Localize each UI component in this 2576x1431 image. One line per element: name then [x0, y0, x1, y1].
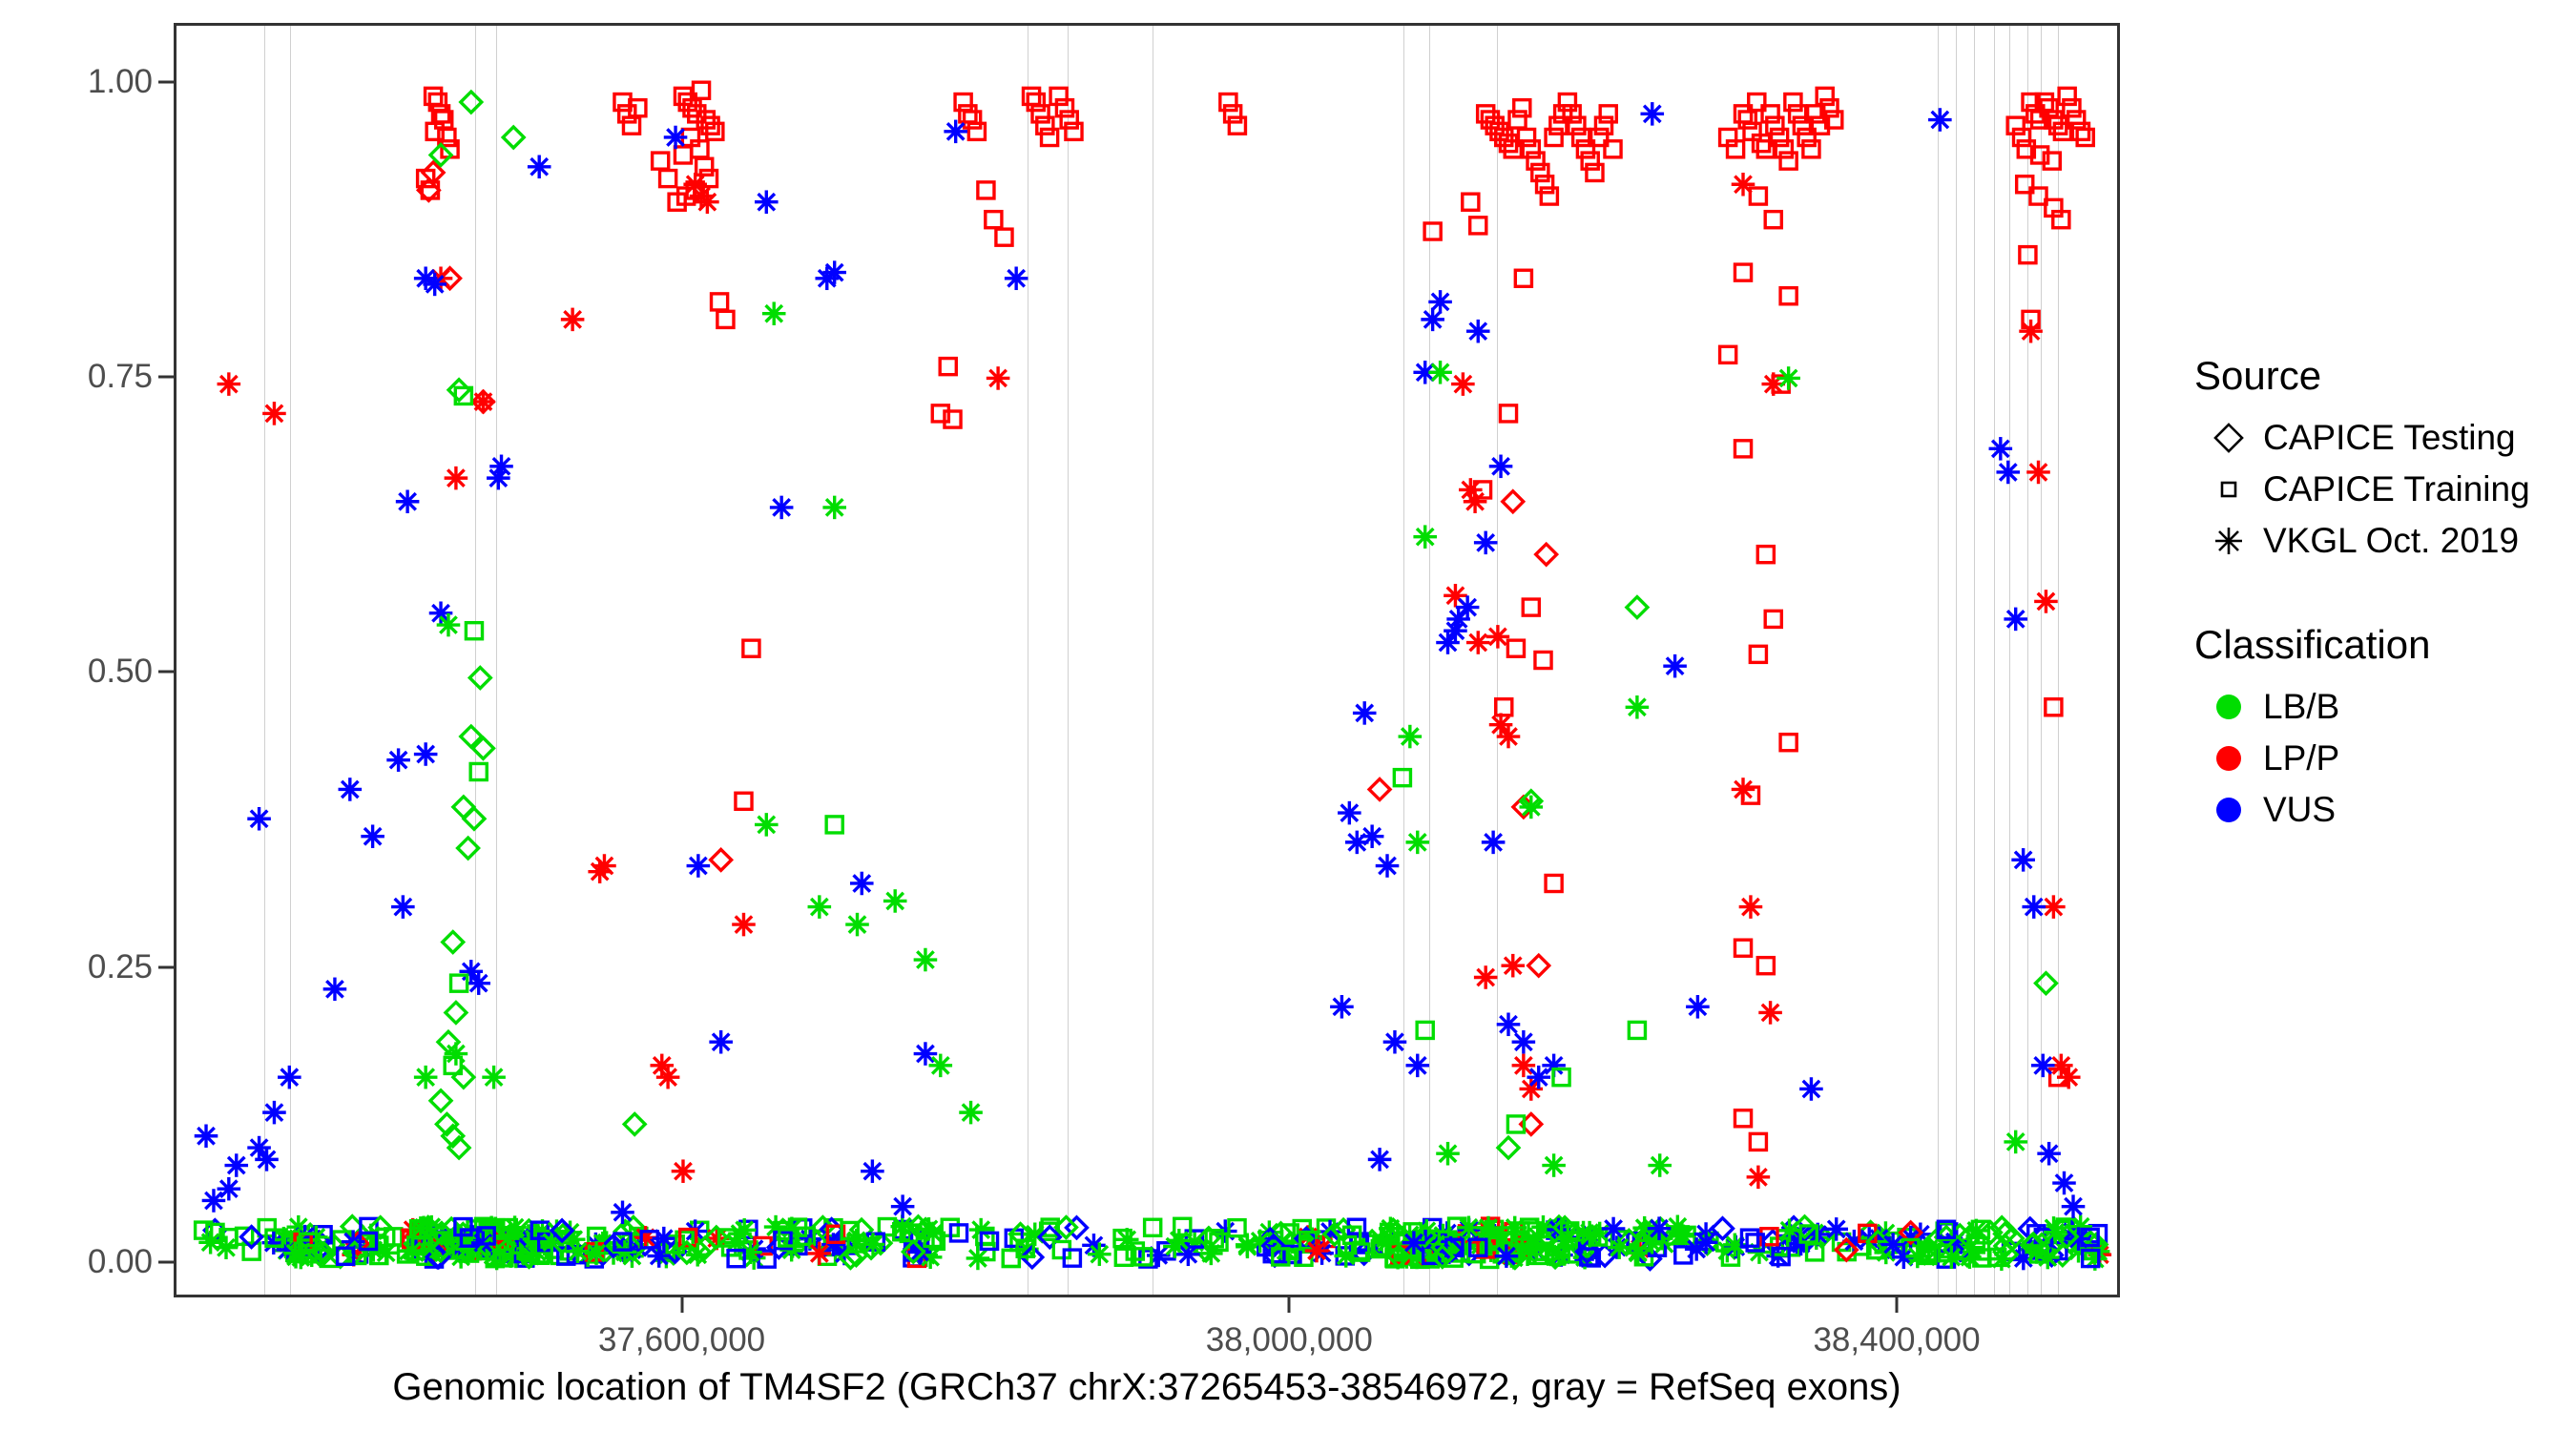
- scatter-point: [461, 92, 482, 113]
- scatter-point: [2031, 1054, 2055, 1078]
- filled-circle-icon-vus: [2194, 798, 2263, 822]
- scatter-point: [822, 496, 846, 520]
- diamond-open-icon: [2194, 422, 2263, 454]
- scatter-point: [2050, 117, 2067, 134]
- scatter-point: [1509, 112, 1526, 128]
- scatter-point: [1088, 1242, 1111, 1266]
- scatter-point: [736, 793, 752, 809]
- scatter-point: [978, 182, 994, 198]
- scatter-point: [711, 849, 732, 870]
- scatter-point: [1780, 735, 1797, 751]
- scatter-point: [883, 889, 907, 913]
- scatter-point: [1663, 654, 1687, 678]
- scatter-point: [1497, 1012, 1521, 1036]
- scatter-point: [283, 1241, 307, 1265]
- scatter-point: [996, 229, 1012, 245]
- scatter-point: [675, 147, 691, 163]
- scatter-point: [932, 405, 948, 422]
- scatter-point: [955, 94, 971, 111]
- scatter-point: [1780, 153, 1797, 169]
- scatter-point: [469, 668, 490, 689]
- scatter-point: [1145, 1219, 1161, 1235]
- plot-panel: [174, 23, 2120, 1297]
- scatter-point: [414, 742, 438, 766]
- scatter-point: [1503, 491, 1524, 512]
- scatter-point: [2044, 153, 2060, 169]
- y-tick-label: 0.50: [88, 653, 153, 691]
- scatter-point: [1436, 1142, 1460, 1166]
- scatter-point: [891, 1194, 915, 1218]
- scatter-point: [1512, 1030, 1536, 1054]
- legend-label-capice-testing: CAPICE Testing: [2263, 418, 2516, 458]
- x-tick-mark: [1288, 1297, 1291, 1313]
- scatter-point: [2034, 590, 2058, 613]
- scatter-point: [743, 640, 759, 656]
- scatter-point: [1501, 954, 1525, 978]
- scatter-point: [1229, 1220, 1245, 1236]
- scatter-point: [1330, 995, 1354, 1019]
- scatter-point: [850, 872, 874, 896]
- scatter-point: [1168, 1229, 1192, 1253]
- scatter-point: [845, 913, 869, 937]
- scatter-point: [255, 1148, 279, 1172]
- legend-label-vkgl: VKGL Oct. 2019: [2263, 521, 2519, 561]
- scatter-point: [1466, 631, 1490, 654]
- scatter-point: [2035, 973, 2056, 994]
- scatter-point: [2046, 699, 2062, 715]
- scatter-point: [1750, 188, 1766, 204]
- scatter-point: [1514, 100, 1530, 116]
- filled-circle-icon-lbb: [2194, 695, 2263, 719]
- scatter-point: [1361, 824, 1384, 848]
- scatter-point: [1739, 895, 1763, 919]
- scatter-point: [940, 359, 956, 375]
- scatter-point: [247, 807, 271, 831]
- scatter-point: [619, 106, 635, 122]
- scatter-point: [592, 854, 616, 878]
- scatter-point: [339, 778, 363, 801]
- scatter-point: [445, 467, 468, 490]
- scatter-point: [1037, 117, 1053, 134]
- scatter-point: [2004, 608, 2027, 632]
- scatter-point: [1379, 1217, 1402, 1241]
- scatter-point: [1528, 955, 1549, 976]
- scatter-point: [2044, 1220, 2067, 1244]
- legend: Source CAPICE Testing CAPICE Training: [2194, 353, 2557, 836]
- scatter-point: [1587, 164, 1603, 180]
- scatter-point: [683, 173, 707, 197]
- capice-scatter-figure: CAPICE score (pathogenicity estimate) 1.…: [0, 0, 2576, 1431]
- scatter-point: [653, 153, 669, 169]
- scatter-point: [1817, 88, 1833, 104]
- scatter-point: [696, 158, 713, 175]
- scatter-point: [467, 971, 490, 995]
- scatter-point: [1757, 547, 1774, 563]
- scatter-point: [262, 1101, 286, 1125]
- scatter-point: [960, 106, 976, 122]
- scatter-point: [1648, 1216, 1672, 1240]
- scatter-point: [929, 1054, 953, 1078]
- scatter-point: [717, 311, 734, 327]
- scatter-point: [1790, 106, 1806, 122]
- scatter-point: [770, 496, 794, 520]
- scatter-point: [2022, 895, 2046, 919]
- legend-label-vus: VUS: [2263, 790, 2336, 830]
- scatter-point: [945, 411, 961, 427]
- scatter-point: [1417, 1022, 1433, 1038]
- scatter-point: [1602, 1217, 1626, 1241]
- scatter-point: [709, 1030, 733, 1054]
- scatter-point: [396, 489, 420, 513]
- scatter-point: [1428, 361, 1452, 384]
- scatter-point: [664, 126, 688, 150]
- scatter-point: [323, 978, 347, 1002]
- scatter-point: [1520, 796, 1544, 819]
- scatter-point: [1464, 489, 1487, 513]
- scatter-point: [1463, 194, 1479, 210]
- scatter-point: [262, 402, 286, 425]
- scatter-point: [2011, 848, 2035, 872]
- scatter-point: [1765, 212, 1781, 228]
- y-tick-label: 0.25: [88, 948, 153, 986]
- scatter-point: [1542, 1153, 1566, 1177]
- legend-source-title: Source: [2194, 353, 2557, 399]
- scatter-point: [1466, 320, 1490, 343]
- scatter-point: [458, 838, 479, 859]
- scatter-point: [1482, 831, 1506, 855]
- scatter-point: [437, 613, 461, 637]
- scatter-point: [687, 854, 711, 878]
- scatter-point: [1512, 1054, 1536, 1078]
- scatter-point: [1767, 117, 1783, 134]
- scatter-point: [2057, 1066, 2081, 1089]
- scatter-point: [808, 1242, 832, 1266]
- scatter-point: [822, 260, 846, 284]
- scatter-point: [487, 467, 510, 490]
- scatter-point: [2077, 129, 2093, 145]
- legend-item-capice-training[interactable]: CAPICE Training: [2194, 464, 2557, 515]
- scatter-point: [1527, 1066, 1550, 1089]
- scatter-point: [471, 390, 495, 414]
- scatter-point: [1376, 854, 1400, 878]
- scatter-point: [1220, 94, 1236, 111]
- scatter-point: [466, 623, 482, 639]
- scatter-point: [1066, 123, 1082, 139]
- legend-item-vkgl[interactable]: VKGL Oct. 2019: [2194, 515, 2557, 567]
- scatter-point: [1383, 1030, 1407, 1054]
- y-tick-mark: [158, 671, 174, 674]
- scatter-point: [2064, 100, 2080, 116]
- scatter-point: [660, 171, 676, 187]
- scatter-point: [1028, 94, 1044, 111]
- scatter-point: [1546, 129, 1562, 145]
- scatter-point: [1532, 164, 1548, 180]
- scatter-point: [1229, 117, 1245, 134]
- scatter-point: [1600, 106, 1616, 122]
- scatter-point: [2072, 123, 2088, 139]
- legend-label-lbb: LB/B: [2263, 687, 2339, 727]
- scatter-point: [1451, 372, 1475, 396]
- scatter-point: [2059, 88, 2075, 104]
- scatter-point: [218, 1177, 241, 1201]
- scatter-point: [1713, 1218, 1734, 1239]
- scatter-point: [1338, 801, 1361, 825]
- scatter-point: [1940, 1245, 1963, 1269]
- scatter-point: [386, 748, 410, 772]
- scatter-point: [624, 1113, 645, 1134]
- legend-item-lpp[interactable]: LP/P: [2194, 733, 2557, 784]
- scatter-point: [1989, 437, 2013, 461]
- scatter-point: [1627, 597, 1648, 618]
- scatter-point: [914, 1042, 938, 1066]
- scatter-point: [540, 1231, 564, 1255]
- scatter-point: [391, 895, 415, 919]
- scatter-point: [1507, 640, 1524, 656]
- scatter-point: [566, 1239, 590, 1263]
- scatter-point: [445, 1042, 468, 1066]
- scatter-point: [1694, 1231, 1718, 1255]
- scatter-point: [1394, 770, 1410, 786]
- x-axis-label: Genomic location of TM4SF2 (GRCh37 chrX:…: [174, 1366, 2120, 1409]
- scatter-point: [426, 88, 442, 104]
- legend-spacer: [2194, 567, 2557, 622]
- scatter-point: [1996, 461, 2020, 485]
- scatter-point: [464, 808, 485, 829]
- legend-label-lpp: LP/P: [2263, 738, 2339, 778]
- legend-item-vus[interactable]: VUS: [2194, 784, 2557, 836]
- x-tick-label: 37,600,000: [598, 1321, 765, 1359]
- scatter-point: [224, 1153, 248, 1177]
- scatter-point: [1042, 129, 1058, 145]
- scatter-point: [959, 1101, 983, 1125]
- scatter-point: [1489, 455, 1513, 479]
- scatter-point: [1785, 94, 1801, 111]
- scatter-point: [1405, 1054, 1429, 1078]
- scatter-point: [1486, 625, 1510, 649]
- scatter-point: [453, 797, 474, 818]
- scatter-point: [611, 1201, 634, 1225]
- scatter-point: [1515, 270, 1531, 286]
- scatter-point: [1735, 940, 1751, 956]
- scatter-point: [528, 156, 551, 179]
- scatter-point: [965, 112, 981, 128]
- scatter-point: [1174, 1218, 1191, 1234]
- scatter-point: [1495, 1244, 1519, 1268]
- scatter-point: [1629, 1022, 1645, 1038]
- scatter-point: [1474, 965, 1498, 989]
- scatter-point: [1757, 958, 1774, 974]
- scatter-point: [218, 372, 241, 396]
- scatter-point: [453, 1067, 474, 1088]
- scatter-point: [738, 1240, 762, 1264]
- asterisk-icon: [2194, 525, 2263, 557]
- scatter-point: [1750, 646, 1766, 662]
- scatter-point: [2020, 247, 2036, 263]
- scatter-point: [198, 1231, 222, 1255]
- scatter-point: [1537, 176, 1553, 193]
- scatter-point: [1648, 1153, 1672, 1177]
- x-tick-label: 38,000,000: [1206, 1321, 1373, 1359]
- scatter-point: [656, 1066, 680, 1089]
- scatter-point: [361, 824, 384, 848]
- scatter-point: [470, 763, 487, 779]
- scatter-point: [914, 948, 938, 972]
- scatter-point: [1735, 264, 1751, 280]
- scatter-point: [987, 366, 1010, 390]
- x-tick-mark: [1896, 1297, 1899, 1313]
- scatter-point: [1732, 778, 1755, 801]
- scatter-point: [2026, 461, 2050, 485]
- scatter-point: [1399, 725, 1423, 749]
- filled-circle-icon-lpp: [2194, 746, 2263, 771]
- scatter-point: [443, 932, 464, 953]
- scatter-point: [623, 117, 639, 134]
- scatter-point: [1824, 1217, 1848, 1241]
- y-tick-label: 0.00: [88, 1243, 153, 1281]
- scatter-point: [686, 1243, 710, 1267]
- legend-item-capice-testing[interactable]: CAPICE Testing: [2194, 412, 2557, 464]
- scatter-point: [1747, 1166, 1771, 1190]
- y-tick-label: 0.75: [88, 358, 153, 396]
- scatter-point: [1928, 108, 1952, 132]
- scatter-point: [1225, 106, 1241, 122]
- scatter-point: [585, 1241, 609, 1265]
- scatter-point: [503, 1215, 527, 1239]
- scatter-point: [448, 380, 469, 401]
- scatter-point: [1536, 544, 1557, 565]
- scatter-point: [826, 817, 842, 833]
- scatter-point: [1368, 1148, 1392, 1172]
- scatter-point: [1369, 779, 1390, 800]
- scatter-point: [278, 1066, 301, 1089]
- scatter-point: [2007, 117, 2024, 134]
- scatter-point: [1424, 223, 1441, 239]
- scatter-point: [1353, 701, 1377, 725]
- scatter-point: [1115, 1249, 1132, 1265]
- scatter-point: [1626, 695, 1650, 719]
- legend-classification-title: Classification: [2194, 622, 2557, 668]
- legend-label-capice-training: CAPICE Training: [2263, 469, 2530, 509]
- square-open-icon: [2194, 473, 2263, 506]
- scatter-point: [1559, 94, 1575, 111]
- scatter-point: [1413, 525, 1437, 549]
- scatter-point: [1402, 1231, 1426, 1255]
- scatter-point: [808, 895, 832, 919]
- scatter-point: [1527, 153, 1544, 169]
- scatter-point: [1776, 366, 1800, 390]
- scatter-point: [968, 123, 985, 139]
- scatter-point: [1496, 699, 1512, 715]
- scatter-point: [2062, 1194, 2086, 1218]
- scatter-point: [732, 913, 756, 937]
- scatter-point: [712, 294, 728, 310]
- scatter-point: [1776, 141, 1792, 157]
- y-tick-mark: [158, 80, 174, 83]
- scatter-point: [1765, 611, 1781, 627]
- scatter-point: [1595, 117, 1611, 134]
- scatter-point: [1489, 713, 1513, 736]
- scatter-point: [944, 120, 967, 144]
- y-tick-mark: [158, 965, 174, 968]
- scatter-point: [1803, 141, 1819, 157]
- scatter-point: [890, 1214, 914, 1238]
- scatter-point: [195, 1124, 218, 1148]
- scatter-point: [1758, 1001, 1782, 1025]
- scatter-point: [1780, 288, 1797, 304]
- scatter-point: [1541, 188, 1557, 204]
- scatter-point: [762, 301, 786, 325]
- legend-item-lbb[interactable]: LB/B: [2194, 681, 2557, 733]
- scatter-point: [1500, 405, 1516, 422]
- x-tick-mark: [680, 1297, 683, 1313]
- scatter-point: [482, 1066, 506, 1089]
- scatter-point: [2052, 1172, 2076, 1195]
- scatter-point: [861, 1159, 884, 1183]
- scatter-point: [1032, 106, 1049, 122]
- scatter-point: [1686, 995, 1710, 1019]
- scatter-point: [2013, 129, 2029, 145]
- scatter-point: [1640, 102, 1664, 126]
- scatter-point: [672, 1159, 696, 1183]
- scatter-point: [2004, 1130, 2027, 1154]
- scatter-point: [1523, 141, 1539, 157]
- scatter-point: [1050, 88, 1067, 104]
- scatter-point: [1739, 112, 1755, 128]
- scatter-point: [414, 1066, 438, 1089]
- scatter-point: [1305, 1239, 1329, 1263]
- scatter-point: [1546, 875, 1562, 891]
- x-tick-label: 38,400,000: [1813, 1321, 1980, 1359]
- scatter-point: [986, 212, 1002, 228]
- scatter-point: [1720, 346, 1736, 363]
- scatter-point: [1881, 1233, 1905, 1256]
- scatter-point: [1523, 599, 1539, 615]
- scatter-point: [2037, 1142, 2061, 1166]
- y-tick-mark: [158, 376, 174, 379]
- scatter-point: [423, 273, 447, 297]
- scatter-point: [1535, 652, 1551, 668]
- scatter-point: [1582, 153, 1598, 169]
- scatter-point: [1735, 1110, 1751, 1127]
- scatter-point: [1498, 1137, 1519, 1158]
- scatter-point: [202, 1189, 226, 1213]
- scatter-point: [1799, 1077, 1823, 1101]
- scatter-point: [2019, 320, 2043, 343]
- scatter-points-layer: [177, 26, 2117, 1295]
- y-tick-mark: [158, 1260, 174, 1263]
- scatter-point: [1666, 1215, 1690, 1239]
- scatter-point: [446, 1002, 467, 1023]
- scatter-point: [1573, 129, 1589, 145]
- scatter-point: [561, 308, 585, 332]
- scatter-point: [1750, 1133, 1766, 1150]
- scatter-point: [1474, 531, 1498, 555]
- scatter-point: [1023, 88, 1039, 104]
- scatter-point: [1061, 112, 1077, 128]
- scatter-point: [1732, 173, 1755, 197]
- scatter-point: [1446, 608, 1470, 632]
- scatter-point: [1470, 218, 1486, 234]
- scatter-point: [755, 190, 779, 214]
- scatter-point: [1405, 831, 1429, 855]
- scatter-point: [503, 127, 524, 148]
- scatter-point: [1735, 441, 1751, 457]
- scatter-point: [1056, 100, 1072, 116]
- scatter-point: [1005, 267, 1028, 291]
- scatter-point: [430, 1090, 451, 1111]
- y-tick-label: 1.00: [88, 63, 153, 101]
- scatter-point: [1428, 290, 1452, 314]
